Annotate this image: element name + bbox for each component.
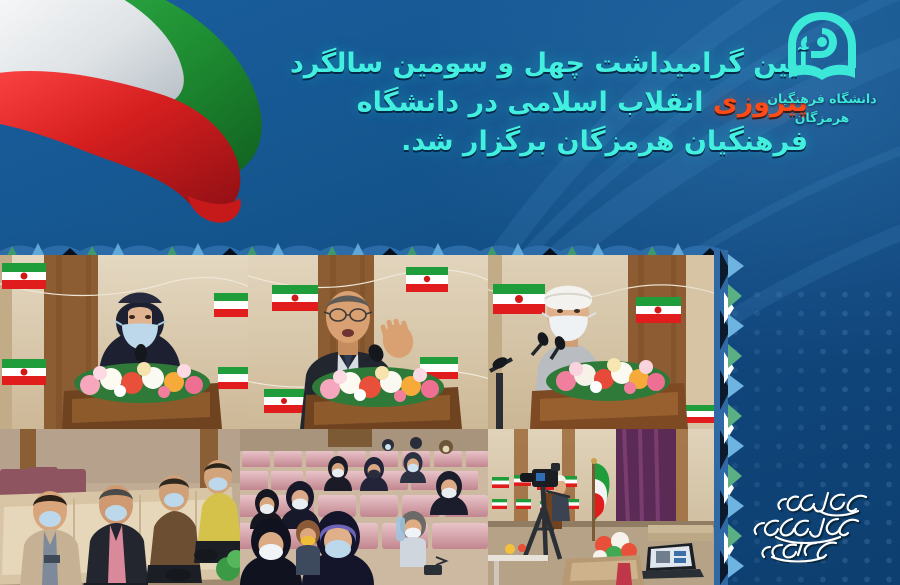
photo-cleric-speaker	[488, 255, 723, 429]
photo-men-audience	[0, 429, 240, 585]
university-logo: دانشگاه فرهنگیان هرمزگان	[758, 8, 886, 128]
photo-hall-camera	[488, 429, 723, 585]
pr-signature	[724, 477, 874, 563]
logo-text-line-1: دانشگاه فرهنگیان	[758, 90, 886, 109]
collage-row-bottom	[0, 429, 723, 585]
photo-male-speaker	[248, 255, 488, 429]
photo-women-audience	[240, 429, 488, 585]
headline-line-2: پیروزی انقلاب اسلامی در دانشگاه	[248, 83, 808, 122]
waving-iran-flag-icon	[0, 0, 284, 238]
headline-line-2-rest: انقلاب اسلامی در دانشگاه	[357, 87, 704, 118]
photo-female-speaker	[0, 255, 248, 429]
page-title: آیین گرامیداشت چهل و سومین سالگرد پیروزی…	[248, 44, 808, 161]
collage-row-top	[0, 255, 723, 429]
news-banner: آیین گرامیداشت چهل و سومین سالگرد پیروزی…	[0, 0, 900, 585]
photo-collage	[0, 255, 723, 585]
headline-line-1: آیین گرامیداشت چهل و سومین سالگرد	[248, 44, 808, 83]
calligraphy-signature-icon	[724, 477, 874, 563]
logo-text-line-2: هرمزگان	[758, 109, 886, 128]
university-book-emblem-icon	[777, 8, 867, 86]
headline-line-3: فرهنگیان هرمزگان برگزار شد.	[248, 122, 808, 161]
